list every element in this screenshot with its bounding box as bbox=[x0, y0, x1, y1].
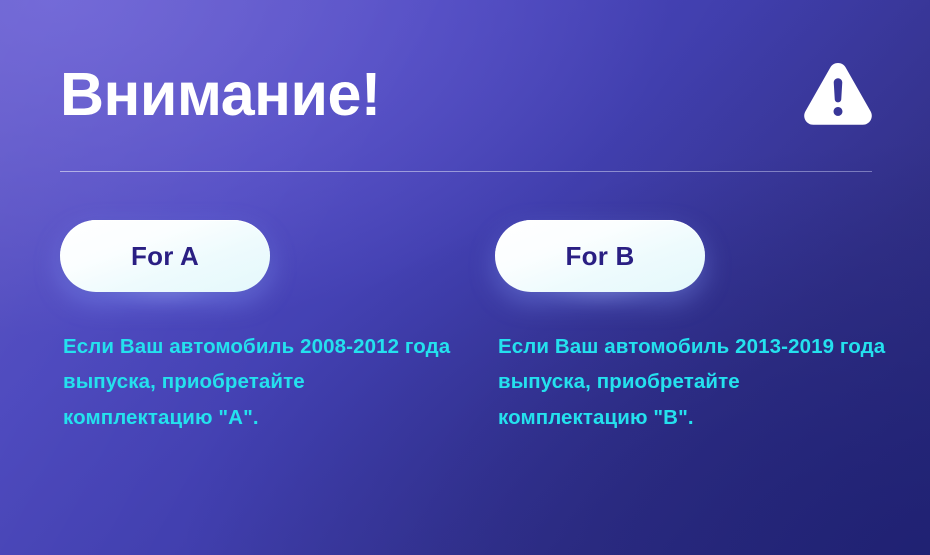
banner-header: Внимание! bbox=[60, 46, 872, 142]
for-a-button[interactable]: For A bbox=[60, 220, 270, 292]
option-column-a: For A Если Ваш автомобиль 2008-2012 года… bbox=[60, 220, 495, 435]
for-a-button-wrap: For A bbox=[60, 220, 270, 292]
banner-content: Внимание! For A Если Ваш автомобиль 2008… bbox=[0, 0, 930, 555]
option-columns: For A Если Ваш автомобиль 2008-2012 года… bbox=[60, 220, 880, 435]
page-title: Внимание! bbox=[60, 64, 381, 125]
for-b-button-wrap: For B bbox=[495, 220, 705, 292]
attention-banner: Внимание! For A Если Ваш автомобиль 2008… bbox=[0, 0, 930, 555]
warning-triangle-icon bbox=[804, 63, 872, 125]
header-divider bbox=[60, 171, 872, 172]
option-a-description: Если Ваш автомобиль 2008-2012 года выпус… bbox=[63, 329, 455, 435]
option-column-b: For B Если Ваш автомобиль 2013-2019 года… bbox=[495, 220, 930, 435]
option-b-description: Если Ваш автомобиль 2013-2019 года выпус… bbox=[498, 329, 890, 435]
for-b-button[interactable]: For B bbox=[495, 220, 705, 292]
